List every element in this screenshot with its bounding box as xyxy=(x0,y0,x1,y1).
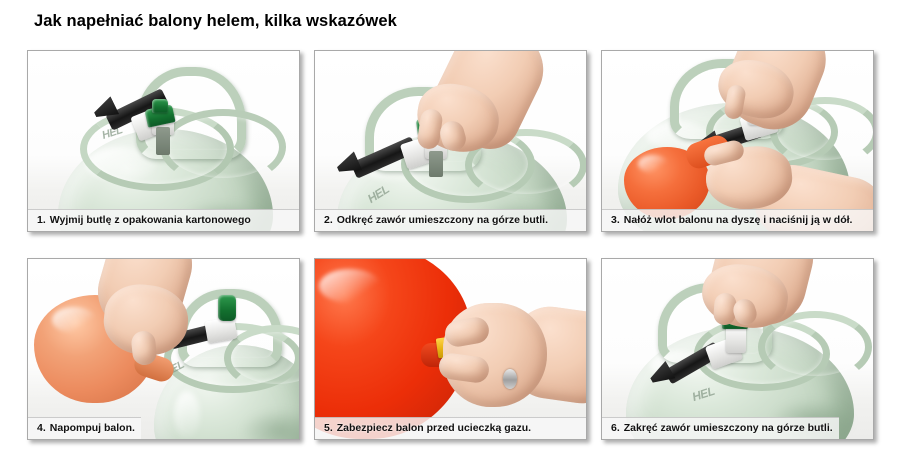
step-caption-6: 6.Zakręć zawór umieszczony na górze butl… xyxy=(602,417,839,439)
step-panel-6[interactable]: HEL 6.Zakręć zawór umieszczony na górze … xyxy=(601,258,874,440)
step-text-6: Zakręć zawór umieszczony na górze butli. xyxy=(624,422,833,434)
step-photo-6: HEL 6.Zakręć zawór umieszczony na górze … xyxy=(602,259,873,439)
step-text-1: Wyjmij butlę z opakowania kartonowego xyxy=(50,214,251,226)
step-panel-2[interactable]: HEL 2.Odkręć zawór umieszczony na górze … xyxy=(314,50,587,232)
steps-grid: HEL 1.Wyjmij butlę z opakowania kartonow… xyxy=(27,50,887,440)
step-number-1: 1. xyxy=(37,214,46,226)
step-photo-5: 5.Zabezpiecz balon przed ucieczką gazu. xyxy=(315,259,586,439)
balloon-highlight xyxy=(52,307,96,333)
step-caption-2: 2.Odkręć zawór umieszczony na górze butl… xyxy=(315,209,586,231)
step-panel-4[interactable]: HEL 4.Napompuj balon. xyxy=(27,258,300,440)
ring xyxy=(503,369,517,389)
step-caption-1: 1.Wyjmij butlę z opakowania kartonowego xyxy=(28,209,299,231)
step-number-5: 5. xyxy=(324,422,333,434)
step-number-3: 3. xyxy=(611,214,620,226)
step-caption-3: 3.Nałóż wlot balonu na dyszę i naciśnij … xyxy=(602,209,873,231)
step-number-4: 4. xyxy=(37,422,46,434)
valve-stem xyxy=(429,151,443,177)
step-photo-1: HEL 1.Wyjmij butlę z opakowania kartonow… xyxy=(28,51,299,231)
page-title: Jak napełniać balony helem, kilka wskazó… xyxy=(34,12,397,31)
step-number-2: 2. xyxy=(324,214,333,226)
balloon-highlight xyxy=(319,269,381,303)
step-panel-1[interactable]: HEL 1.Wyjmij butlę z opakowania kartonow… xyxy=(27,50,300,232)
step-panel-5[interactable]: 5.Zabezpiecz balon przed ucieczką gazu. xyxy=(314,258,587,440)
step-photo-2: HEL 2.Odkręć zawór umieszczony na górze … xyxy=(315,51,586,231)
step-caption-4: 4.Napompuj balon. xyxy=(28,417,141,439)
step-text-3: Nałóż wlot balonu na dyszę i naciśnij ją… xyxy=(624,214,853,226)
step-text-5: Zabezpiecz balon przed ucieczką gazu. xyxy=(337,422,531,434)
balloon-highlight xyxy=(638,155,668,173)
valve-collar xyxy=(726,325,746,353)
step-panel-3[interactable]: 3.Nałóż wlot balonu na dyszę i naciśnij … xyxy=(601,50,874,232)
step-text-2: Odkręć zawór umieszczony na górze butli. xyxy=(337,214,548,226)
step-photo-4: HEL 4.Napompuj balon. xyxy=(28,259,299,439)
step-photo-3: 3.Nałóż wlot balonu na dyszę i naciśnij … xyxy=(602,51,873,231)
valve-stem xyxy=(156,127,170,155)
step-text-4: Napompuj balon. xyxy=(50,422,135,434)
valve-knob xyxy=(218,295,236,321)
step-number-6: 6. xyxy=(611,422,620,434)
valve-knob-top xyxy=(152,99,168,113)
step-caption-5: 5.Zabezpiecz balon przed ucieczką gazu. xyxy=(315,417,586,439)
